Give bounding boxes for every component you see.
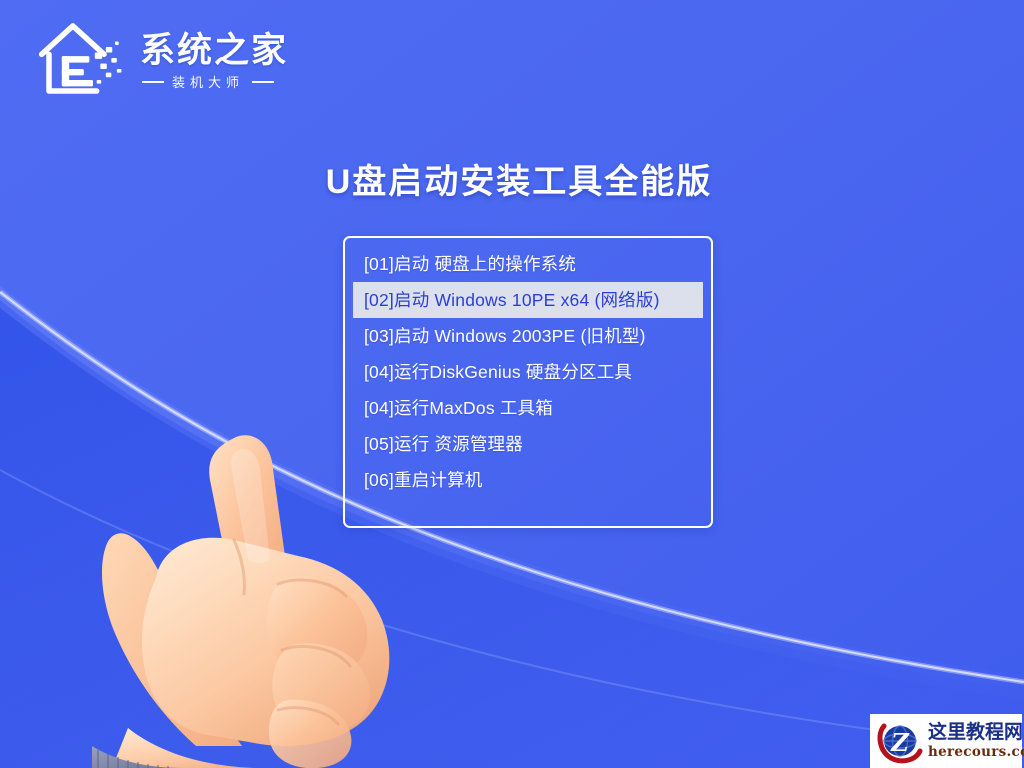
watermark-site-url: herecours.com <box>928 746 1024 760</box>
watermark-text-block: 这里教程网 herecours.com <box>928 723 1024 760</box>
brand-text-block: 系统之家 装机大师 <box>140 25 288 91</box>
menu-item-04-maxdos[interactable]: [04]运行MaxDos 工具箱 <box>353 390 703 426</box>
menu-item-03[interactable]: [03]启动 Windows 2003PE (旧机型) <box>353 318 703 354</box>
menu-item-05[interactable]: [05]运行 资源管理器 <box>353 426 703 462</box>
watermark: Z 这里教程网 herecours.com <box>870 714 1022 768</box>
menu-item-02[interactable]: [02]启动 Windows 10PE x64 (网络版) <box>353 282 703 318</box>
svg-text:Z: Z <box>890 728 910 757</box>
brand-subtitle-label: 装机大师 <box>172 72 244 91</box>
z-globe-icon: Z <box>875 717 925 765</box>
house-pixel-logo-icon <box>36 14 128 102</box>
watermark-site-name: 这里教程网 <box>928 723 1024 742</box>
page-title-label: U盘启动安装工具全能版 <box>312 163 713 201</box>
menu-item-04-diskgenius[interactable]: [04]运行DiskGenius 硬盘分区工具 <box>353 354 703 390</box>
menu-item-06[interactable]: [06]重启计算机 <box>353 462 703 498</box>
boot-menu-list: [01]启动 硬盘上的操作系统 [02]启动 Windows 10PE x64 … <box>353 246 703 498</box>
page-title: U盘启动安装工具全能版 <box>0 154 1024 203</box>
brand-logo: 系统之家 装机大师 <box>36 14 288 102</box>
boot-menu-screen: 系统之家 装机大师 U盘启动安装工具全能版 [01]启动 硬盘上的操作系统 [0… <box>0 0 1024 768</box>
menu-item-01[interactable]: [01]启动 硬盘上的操作系统 <box>353 246 703 282</box>
brand-rule-left <box>142 81 164 83</box>
brand-rule-right <box>252 81 274 83</box>
brand-name: 系统之家 <box>140 31 288 70</box>
brand-subtitle: 装机大师 <box>140 72 288 91</box>
boot-menu-box: [01]启动 硬盘上的操作系统 [02]启动 Windows 10PE x64 … <box>343 236 713 528</box>
